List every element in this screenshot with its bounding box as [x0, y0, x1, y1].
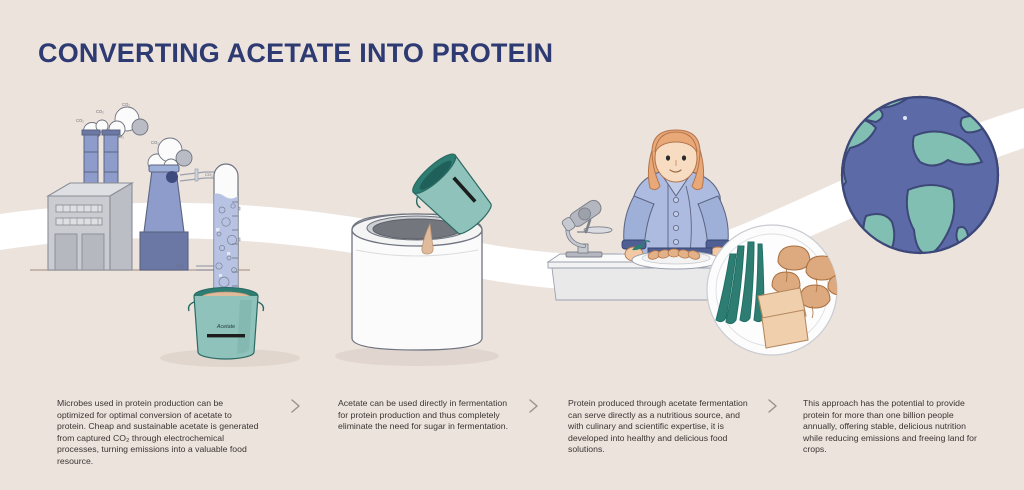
protein-blocks	[758, 288, 808, 348]
svg-text:CO₂: CO₂	[176, 263, 184, 268]
step-1-caption: Microbes used in protein production can …	[57, 398, 262, 468]
svg-text:CO₂: CO₂	[76, 118, 84, 123]
svg-text:CO₂: CO₂	[151, 140, 159, 145]
chevron-right-icon-1	[289, 398, 303, 414]
acetate-bucket-label: Acetate	[216, 324, 235, 330]
acetate-bucket: Acetate	[189, 288, 264, 360]
food-plate	[707, 225, 854, 355]
svg-text:CO₂: CO₂	[96, 109, 104, 114]
scene-factory: CO₂ CO₂ CO₂ CO₂ CO₂	[30, 102, 263, 359]
microscope	[561, 198, 612, 257]
chef-figure	[622, 130, 730, 262]
chevron-right-icon-2	[527, 398, 541, 414]
infographic-canvas: CO₂ CO₂ CO₂ CO₂ CO₂	[0, 0, 1024, 490]
factory-building	[48, 183, 132, 270]
page-title: CONVERTING ACETATE INTO PROTEIN	[38, 38, 553, 69]
step-2-caption: Acetate can be used directly in fermenta…	[338, 398, 516, 433]
step-3-caption: Protein produced through acetate ferment…	[568, 398, 748, 456]
scene-fermentation	[352, 149, 499, 350]
chevron-right-icon-3	[766, 398, 780, 414]
earth-globe	[814, 95, 998, 261]
svg-text:CO₂: CO₂	[122, 102, 130, 107]
step-4-caption: This approach has the potential to provi…	[803, 398, 983, 456]
svg-text:CO₂: CO₂	[205, 172, 213, 177]
